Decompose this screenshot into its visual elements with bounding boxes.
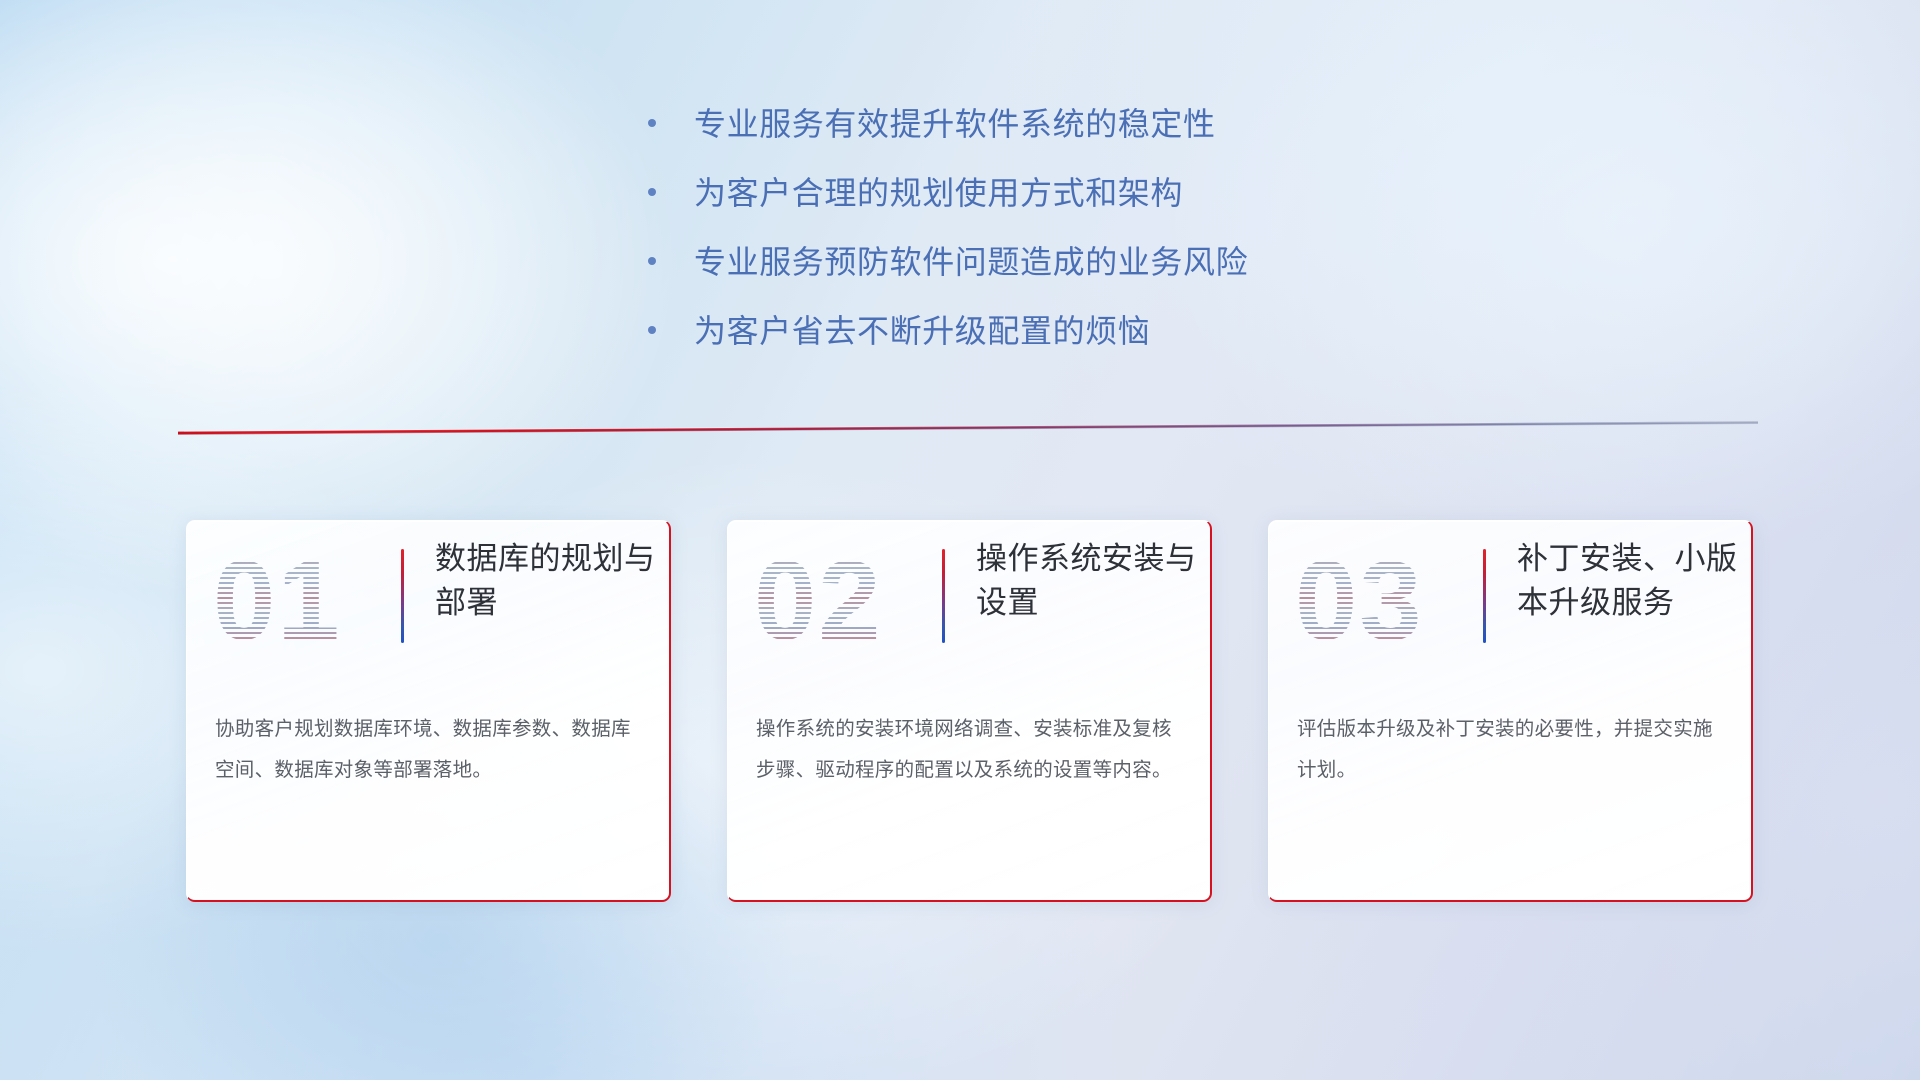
card-accent-bar: [401, 549, 404, 643]
card-number-ghost: 03: [1295, 537, 1455, 665]
list-item: 专业服务预防软件问题造成的业务风险: [648, 242, 1408, 282]
benefits-bullet-list: 专业服务有效提升软件系统的稳定性 为客户合理的规划使用方式和架构 专业服务预防软…: [648, 104, 1408, 380]
bullet-dot-icon: [648, 119, 656, 127]
service-card[interactable]: 01 01 数据库的规划与部署 协助客户规划数据库环境、数据库参数、数据库空间、…: [186, 520, 671, 902]
service-card[interactable]: 02 02 操作系统安装与设置 操作系统的安装环境网络调查、安装标准及复核步骤、…: [727, 520, 1212, 902]
card-description: 操作系统的安装环境网络调查、安装标准及复核步骤、驱动程序的配置以及系统的设置等内…: [756, 709, 1186, 790]
bullet-label: 为客户合理的规划使用方式和架构: [694, 173, 1183, 213]
card-title: 数据库的规划与部署: [435, 537, 661, 625]
card-number-ghost: 02: [754, 537, 914, 665]
card-header: 03 03 补丁安装、小版本升级服务: [1269, 521, 1751, 691]
list-item: 专业服务有效提升软件系统的稳定性: [648, 104, 1408, 144]
card-description: 协助客户规划数据库环境、数据库参数、数据库空间、数据库对象等部署落地。: [215, 709, 645, 790]
bullet-label: 为客户省去不断升级配置的烦恼: [694, 311, 1150, 351]
service-card-row: 01 01 数据库的规划与部署 协助客户规划数据库环境、数据库参数、数据库空间、…: [186, 520, 1754, 902]
card-description: 评估版本升级及补丁安装的必要性，并提交实施计划。: [1297, 709, 1727, 790]
card-header: 02 02 操作系统安装与设置: [728, 521, 1210, 691]
bullet-dot-icon: [648, 257, 656, 265]
list-item: 为客户省去不断升级配置的烦恼: [648, 311, 1408, 351]
service-card[interactable]: 03 03 补丁安装、小版本升级服务 评估版本升级及补丁安装的必要性，并提交实施…: [1268, 520, 1753, 902]
bullet-dot-icon: [648, 188, 656, 196]
bullet-dot-icon: [648, 326, 656, 334]
card-title: 操作系统安装与设置: [976, 537, 1202, 625]
slide-canvas: 专业服务有效提升软件系统的稳定性 为客户合理的规划使用方式和架构 专业服务预防软…: [0, 0, 1920, 1080]
card-accent-bar: [942, 549, 945, 643]
list-item: 为客户合理的规划使用方式和架构: [648, 173, 1408, 213]
bullet-label: 专业服务有效提升软件系统的稳定性: [694, 104, 1216, 144]
card-accent-bar: [1483, 549, 1486, 643]
card-number-ghost: 01: [213, 537, 373, 665]
tapered-accent-rule: [178, 421, 1758, 439]
bullet-label: 专业服务预防软件问题造成的业务风险: [694, 242, 1248, 282]
card-header: 01 01 数据库的规划与部署: [187, 521, 669, 691]
card-title: 补丁安装、小版本升级服务: [1517, 537, 1743, 625]
